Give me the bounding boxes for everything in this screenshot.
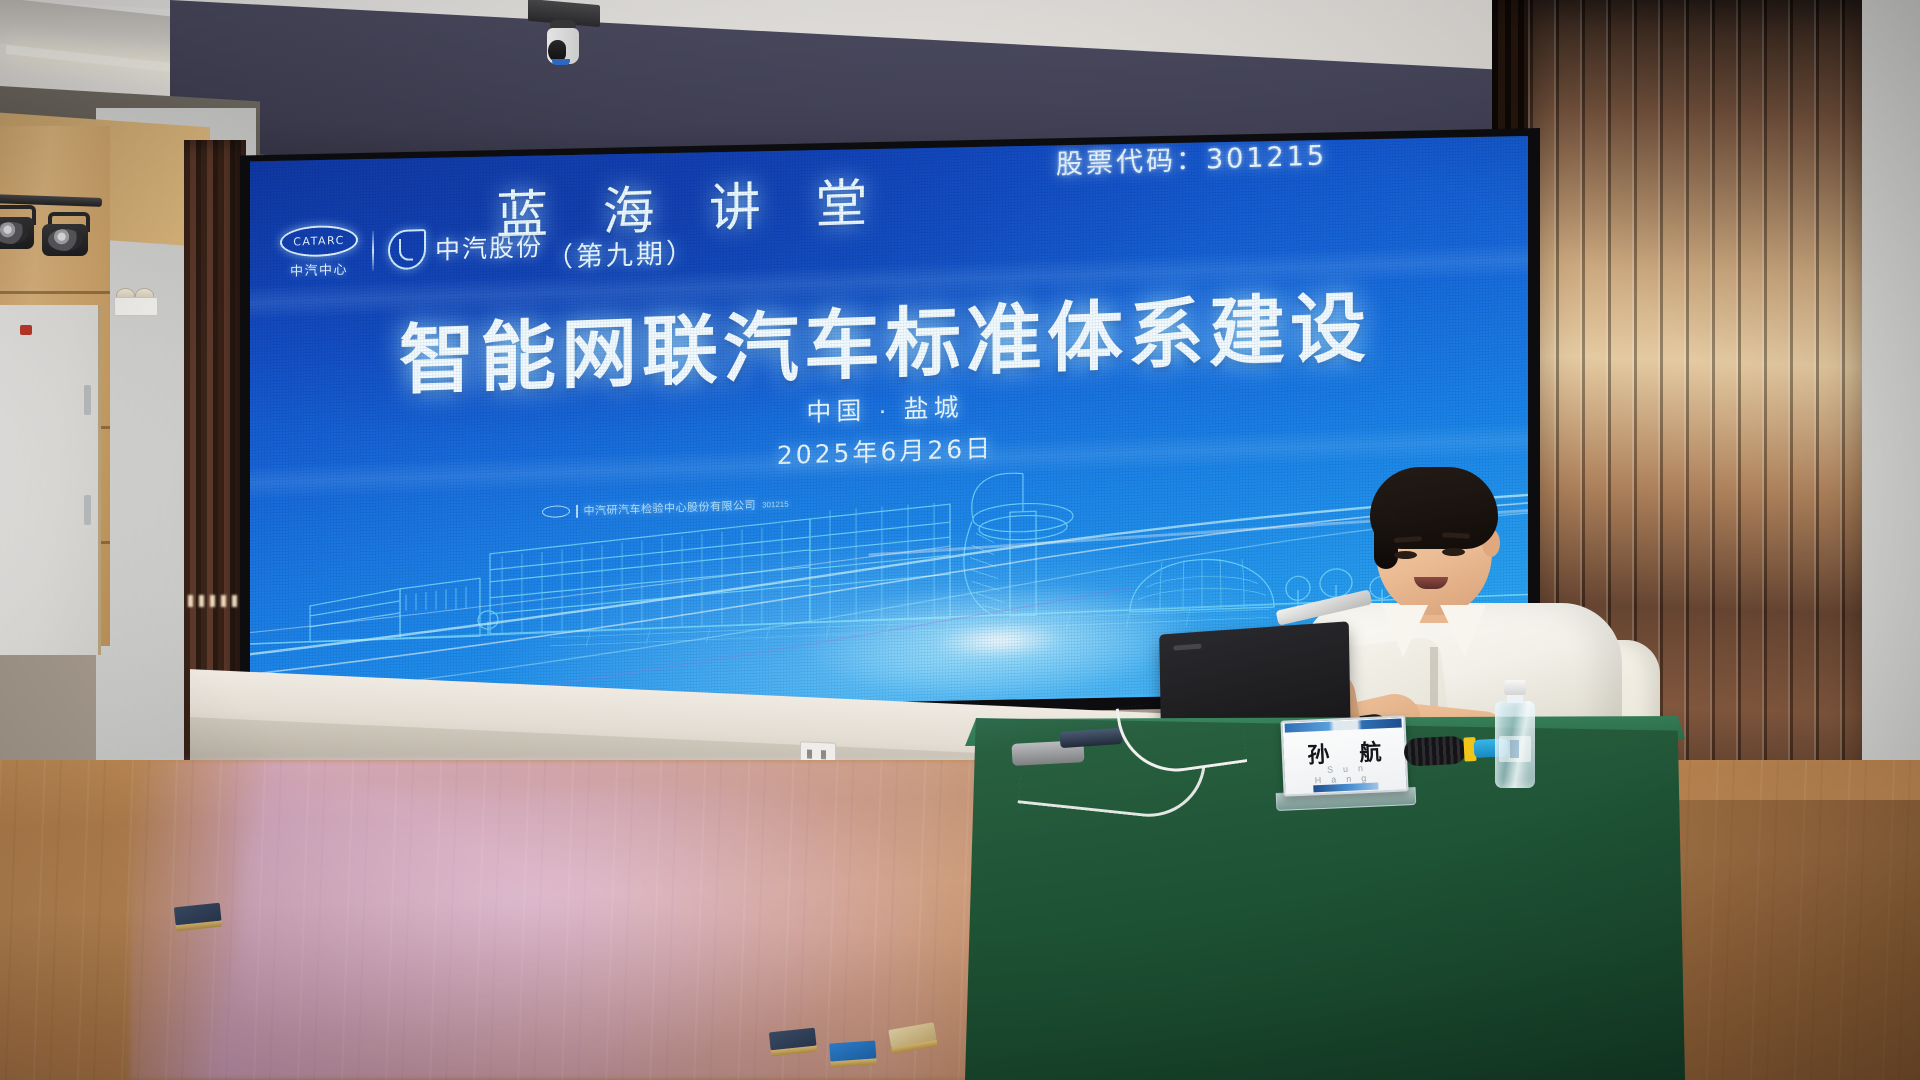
handheld-microphone[interactable] — [1403, 731, 1509, 768]
mini-catarc-oval — [542, 505, 570, 518]
door-hinge-bottom — [84, 495, 91, 525]
emergency-light-icon — [114, 288, 156, 314]
stage-light-icon-2 — [42, 212, 88, 256]
stage-light-icon-1 — [0, 205, 34, 249]
bottle-label — [1499, 736, 1531, 762]
building-stock-code: 301215 — [762, 499, 789, 509]
catarc-cn-label: 中汽中心 — [290, 259, 348, 280]
booklet-1 — [174, 903, 222, 932]
catarc-logo: CATARC 中汽中心 — [280, 224, 358, 280]
camera-indicator — [552, 59, 570, 65]
label-divider — [576, 504, 578, 517]
floor-led-reflection-core — [240, 792, 940, 1072]
laptop-logo — [1173, 644, 1201, 651]
catarc-oval-icon: CATARC — [280, 224, 358, 258]
event-edition: （第九期） — [546, 231, 696, 275]
hair — [1370, 467, 1498, 549]
eye-right — [1442, 548, 1465, 556]
column-highlight — [188, 595, 242, 607]
booklet-2 — [769, 1028, 817, 1057]
exit-door[interactable] — [0, 305, 101, 655]
leaf-mark-icon — [388, 229, 426, 270]
lecture-hall-scene: 中汽研汽车检验中心股份有限公司 301215 股票代码：301215 CAT — [0, 0, 1920, 1080]
door-indicator — [20, 325, 32, 335]
ptz-camera-icon — [528, 2, 600, 70]
booklet-3 — [829, 1040, 877, 1067]
logo-divider — [372, 230, 374, 270]
mic-windscreen — [1403, 735, 1466, 766]
name-card: 孙 航 Sun Hang — [1280, 715, 1408, 796]
eye-left — [1394, 551, 1417, 559]
bottle-cap — [1504, 680, 1526, 695]
door-hinge-top — [84, 385, 91, 415]
water-bottle[interactable] — [1495, 680, 1535, 788]
